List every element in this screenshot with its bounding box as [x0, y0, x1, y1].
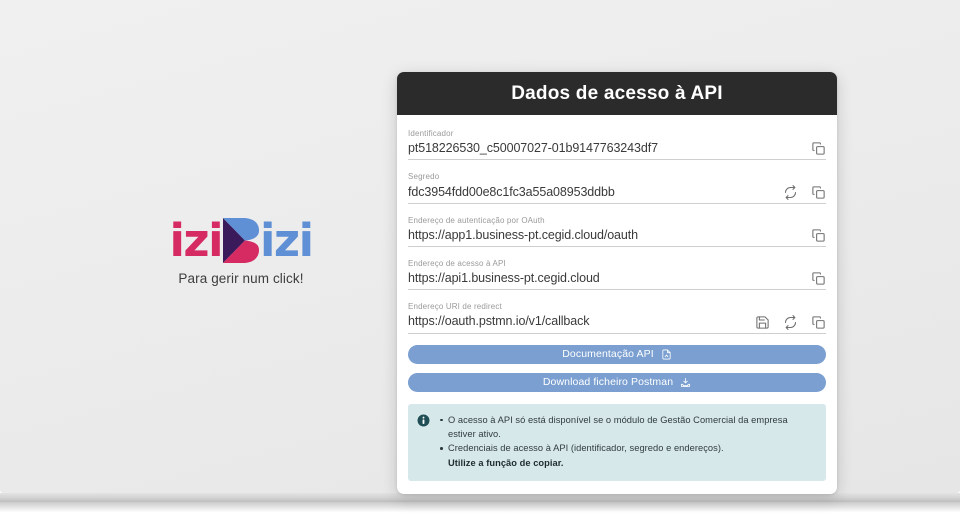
page-title: Dados de acesso à API — [511, 83, 723, 105]
download-tray-icon — [680, 377, 691, 388]
field-texts: Endereço de autenticação por OAuth https… — [408, 215, 801, 244]
info-bullet: O acesso à API só está disponível se o m… — [439, 413, 816, 442]
field-label: Endereço URI de redirect — [408, 301, 745, 312]
field-oauth-endpoint: Endereço de autenticação por OAuth https… — [408, 215, 826, 247]
info-bullet-list: O acesso à API só está disponível se o m… — [439, 413, 816, 471]
field-label: Endereço de acesso à API — [408, 258, 801, 269]
logo-text-right: izi — [260, 218, 313, 263]
copy-icon[interactable] — [811, 141, 826, 156]
api-access-card: Dados de acesso à API Identificador pt51… — [397, 72, 837, 494]
field-label: Segredo — [408, 171, 773, 182]
info-bullet-text: O acesso à API só está disponível se o m… — [448, 415, 788, 439]
info-emphasis-text: Utilize a função de copiar. — [448, 456, 816, 470]
field-identificador: Identificador pt518226530_c50007027-01b9… — [408, 128, 826, 160]
field-actions — [801, 141, 826, 157]
field-actions — [745, 315, 826, 331]
copy-icon[interactable] — [811, 315, 826, 330]
api-endpoint-value[interactable]: https://api1.business-pt.cegid.cloud — [408, 269, 801, 287]
copy-icon[interactable] — [811, 185, 826, 200]
info-bullet-text: Credenciais de acesso à API (identificad… — [448, 443, 724, 453]
logo-row: izi izi — [150, 216, 332, 264]
device-shadow — [0, 502, 960, 516]
info-circle-icon — [417, 414, 430, 427]
field-actions — [773, 185, 826, 201]
segredo-value[interactable]: fdc3954fdd00e8c1fc3a55a08953ddbb — [408, 183, 773, 201]
copy-icon[interactable] — [811, 228, 826, 243]
info-bullet: Credenciais de acesso à API (identificad… — [439, 441, 816, 470]
card-body: Identificador pt518226530_c50007027-01b9… — [397, 115, 837, 494]
pdf-file-icon — [661, 349, 672, 360]
field-texts: Identificador pt518226530_c50007027-01b9… — [408, 128, 801, 157]
field-texts: Segredo fdc3954fdd00e8c1fc3a55a08953ddbb — [408, 171, 773, 200]
refresh-icon[interactable] — [783, 315, 798, 330]
copy-icon[interactable] — [811, 271, 826, 286]
logo-text-left: izi — [169, 218, 222, 263]
izibizi-b-logomark-icon — [221, 217, 261, 264]
download-postman-label: Download ficheiro Postman — [543, 376, 673, 388]
card-header: Dados de acesso à API — [397, 72, 837, 115]
field-label: Identificador — [408, 128, 801, 139]
info-notice-box: O acesso à API só está disponível se o m… — [408, 404, 826, 482]
documentacao-api-label: Documentação API — [562, 348, 654, 360]
redirect-uri-value[interactable]: https://oauth.pstmn.io/v1/callback — [408, 312, 745, 330]
device-bezel — [0, 493, 960, 502]
documentacao-api-button[interactable]: Documentação API — [408, 345, 826, 364]
field-redirect-uri: Endereço URI de redirect https://oauth.p… — [408, 301, 826, 333]
oauth-endpoint-value[interactable]: https://app1.business-pt.cegid.cloud/oau… — [408, 226, 801, 244]
download-postman-button[interactable]: Download ficheiro Postman — [408, 373, 826, 392]
field-texts: Endereço URI de redirect https://oauth.p… — [408, 301, 745, 330]
field-texts: Endereço de acesso à API https://api1.bu… — [408, 258, 801, 287]
refresh-icon[interactable] — [783, 185, 798, 200]
brand-logo-block: izi izi Para gerir num click! — [150, 216, 332, 286]
identificador-value[interactable]: pt518226530_c50007027-01b9147763243df7 — [408, 139, 801, 157]
field-actions — [801, 271, 826, 287]
save-icon[interactable] — [755, 315, 770, 330]
field-api-endpoint: Endereço de acesso à API https://api1.bu… — [408, 258, 826, 290]
brand-tagline: Para gerir num click! — [150, 271, 332, 286]
field-actions — [801, 228, 826, 244]
field-label: Endereço de autenticação por OAuth — [408, 215, 801, 226]
field-segredo: Segredo fdc3954fdd00e8c1fc3a55a08953ddbb — [408, 171, 826, 203]
